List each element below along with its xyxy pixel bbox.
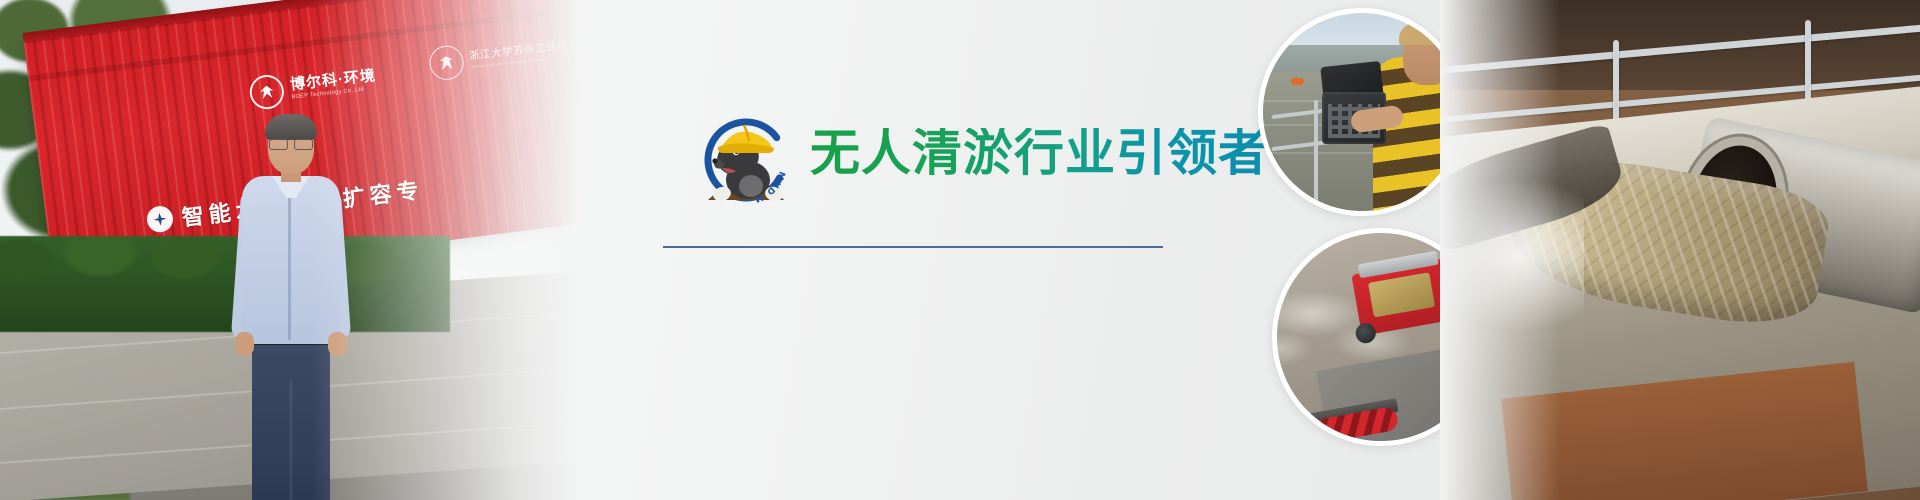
brand-seal-icon	[248, 73, 285, 110]
water-spray	[1440, 180, 1584, 330]
glasses-icon	[269, 139, 313, 148]
right-photo-pipe-discharge	[1440, 0, 1920, 500]
person-trousers	[252, 340, 330, 500]
hero-banner: 博尔科·环境 BOEP Technology Co.,Ltd 浙江大学苏州工业技…	[0, 0, 1920, 500]
mud-mole-logo: MUD MOLE	[694, 108, 798, 212]
headline: 无人清淤行业引领者	[810, 128, 1269, 178]
left-photo: 博尔科·环境 BOEP Technology Co.,Ltd 浙江大学苏州工业技…	[0, 0, 600, 500]
person-portrait	[236, 118, 346, 500]
shirt-placket	[288, 190, 291, 340]
photo-circle-operator	[1258, 8, 1466, 216]
center-content: MUD MOLE 无人清淤行业引领者	[660, 0, 1180, 500]
person-shirt	[242, 176, 340, 344]
left-photo-scene: 博尔科·环境 BOEP Technology Co.,Ltd 浙江大学苏州工业技…	[0, 0, 600, 500]
handrail-post	[1314, 100, 1318, 203]
institute-seal-icon	[428, 44, 465, 81]
hedge-row	[0, 236, 450, 332]
slogan-badge-icon	[146, 205, 175, 234]
person-hand-left	[235, 332, 254, 356]
operator-scene	[1263, 13, 1461, 211]
headline-divider	[663, 246, 1163, 248]
person-hand-right	[328, 332, 347, 356]
person-hair	[265, 114, 317, 140]
